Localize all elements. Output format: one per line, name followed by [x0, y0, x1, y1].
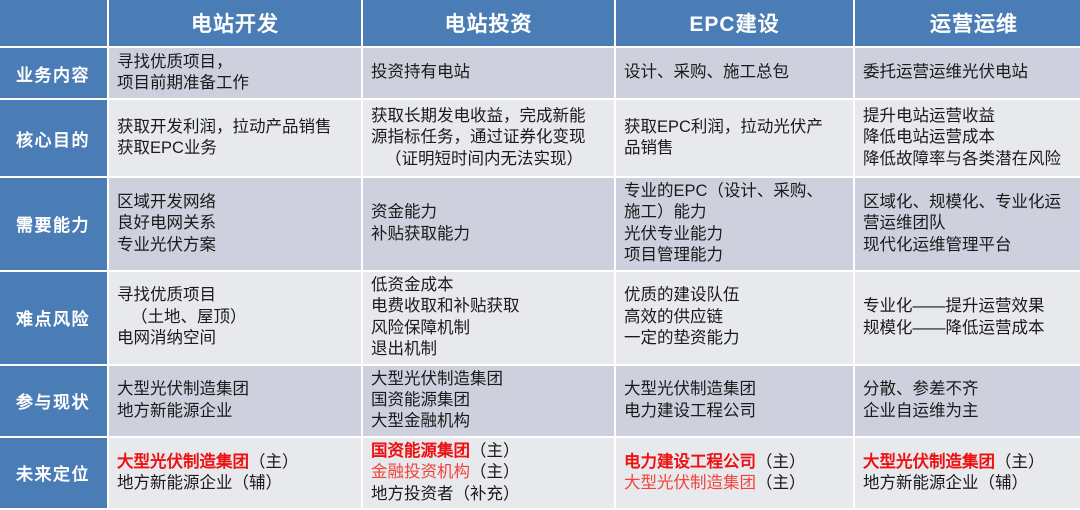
highlight-text: 大型光伏制造集团	[624, 474, 756, 492]
cell-line: 电力建设工程公司	[624, 401, 847, 422]
cell-line: 项目管理能力	[624, 245, 847, 266]
column-header-col-dev: 电站开发	[109, 0, 361, 46]
row-header-row-core-purpose: 核心目的	[0, 100, 107, 176]
cell-line: 大型光伏制造集团	[624, 379, 847, 400]
cell-line: 区域化、规模化、专业化运	[863, 192, 1080, 213]
cell-line: 设计、采购、施工总包	[624, 62, 847, 83]
cell-line: 专业光伏方案	[117, 235, 355, 256]
cell-row-required-capability-col-dev: 区域开发网络良好电网关系专业光伏方案	[109, 178, 361, 270]
cell-line: 降低故障率与各类潜在风险	[863, 149, 1080, 170]
cell-row-business-content-col-inv: 投资持有电站	[363, 48, 614, 98]
cell-line: 源指标任务，通过证券化变现	[371, 127, 608, 148]
table-header: 电站开发 电站投资 EPC建设 运营运维	[0, 0, 1080, 46]
column-header-col-inv: 电站投资	[363, 0, 614, 46]
cell-line: 规模化——降低运营成本	[863, 318, 1080, 339]
cell-line: 风险保障机制	[371, 318, 608, 339]
table-row: 难点风险寻找优质项目（土地、屋顶）电网消纳空间低资金成本电费收取和补贴获取风险保…	[0, 272, 1080, 364]
cell-line: 营运维团队	[863, 213, 1080, 234]
cell-row-required-capability-col-epc: 专业的EPC（设计、采购、施工）能力光伏专业能力项目管理能力	[616, 178, 853, 270]
cell-line: 资金能力	[371, 202, 608, 223]
highlight-text: 国资能源集团	[371, 442, 470, 460]
cell-line: 高效的供应链	[624, 307, 847, 328]
cell-line: 寻找优质项目	[117, 285, 355, 306]
cell-row-core-purpose-col-ops: 提升电站运营收益降低电站运营成本降低故障率与各类潜在风险	[855, 100, 1080, 176]
cell-line: （土地、屋顶）	[117, 307, 355, 328]
row-header-row-required-capability: 需要能力	[0, 178, 107, 270]
cell-row-core-purpose-col-inv: 获取长期发电收益，完成新能源指标任务，通过证券化变现（证明短时间内无法实现）	[363, 100, 614, 176]
cell-line: 良好电网关系	[117, 213, 355, 234]
cell-line: 现代化运维管理平台	[863, 235, 1080, 256]
table-row: 业务内容寻找优质项目，项目前期准备工作投资持有电站设计、采购、施工总包委托运营运…	[0, 48, 1080, 98]
comparison-matrix-container: 电站开发 电站投资 EPC建设 运营运维 业务内容寻找优质项目，项目前期准备工作…	[0, 0, 1080, 490]
cell-line: 一定的垫资能力	[624, 328, 847, 349]
row-header-row-future-position: 未来定位	[0, 438, 107, 508]
cell-line: 分散、参差不齐	[863, 379, 1080, 400]
table-row: 未来定位大型光伏制造集团（主）地方新能源企业（辅）国资能源集团（主）金融投资机构…	[0, 438, 1080, 508]
cell-row-participation-status-col-epc: 大型光伏制造集团电力建设工程公司	[616, 366, 853, 436]
cell-line: 品销售	[624, 138, 847, 159]
column-header-col-ops: 运营运维	[855, 0, 1080, 46]
cell-line: 降低电站运营成本	[863, 127, 1080, 148]
cell-row-future-position-col-dev: 大型光伏制造集团（主）地方新能源企业（辅）	[109, 438, 361, 508]
cell-line: （证明短时间内无法实现）	[371, 149, 608, 170]
row-header-row-business-content: 业务内容	[0, 48, 107, 98]
cell-row-business-content-col-dev: 寻找优质项目，项目前期准备工作	[109, 48, 361, 98]
cell-line: 项目前期准备工作	[117, 73, 355, 94]
cell-line: 大型光伏制造集团（主）	[624, 473, 847, 494]
cell-line: 专业的EPC（设计、采购、	[624, 181, 847, 202]
cell-line: 大型光伏制造集团（主）	[863, 452, 1080, 473]
cell-row-future-position-col-epc: 电力建设工程公司（主）大型光伏制造集团（主）	[616, 438, 853, 508]
cell-line: 金融投资机构（主）	[371, 462, 608, 483]
cell-line: 大型光伏制造集团（主）	[117, 452, 355, 473]
cell-line: 光伏专业能力	[624, 224, 847, 245]
cell-line: 获取EPC业务	[117, 138, 355, 159]
cell-line: 投资持有电站	[371, 62, 608, 83]
table-row: 核心目的获取开发利润，拉动产品销售获取EPC业务获取长期发电收益，完成新能源指标…	[0, 100, 1080, 176]
cell-line: 地方新能源企业	[117, 401, 355, 422]
column-header-col-epc: EPC建设	[616, 0, 853, 46]
highlight-text: 电力建设工程公司	[624, 453, 756, 471]
cell-line: 电力建设工程公司（主）	[624, 452, 847, 473]
cell-line: 提升电站运营收益	[863, 106, 1080, 127]
row-header-row-participation-status: 参与现状	[0, 366, 107, 436]
cell-line: 补贴获取能力	[371, 224, 608, 245]
cell-row-future-position-col-inv: 国资能源集团（主）金融投资机构（主）地方投资者（补充）	[363, 438, 614, 508]
table-row: 需要能力区域开发网络良好电网关系专业光伏方案资金能力补贴获取能力专业的EPC（设…	[0, 178, 1080, 270]
cell-line: 寻找优质项目，	[117, 52, 355, 73]
cell-row-future-position-col-ops: 大型光伏制造集团（主）地方新能源企业（辅）	[855, 438, 1080, 508]
cell-row-core-purpose-col-epc: 获取EPC利润，拉动光伏产品销售	[616, 100, 853, 176]
cell-row-participation-status-col-inv: 大型光伏制造集团国资能源集团大型金融机构	[363, 366, 614, 436]
cell-row-business-content-col-ops: 委托运营运维光伏电站	[855, 48, 1080, 98]
cell-line: 国资能源集团	[371, 390, 608, 411]
cell-line: 电网消纳空间	[117, 328, 355, 349]
cell-line: 企业自运维为主	[863, 401, 1080, 422]
highlight-text: 大型光伏制造集团	[117, 453, 249, 471]
cell-line: 区域开发网络	[117, 192, 355, 213]
cell-row-difficulty-risk-col-epc: 优质的建设队伍高效的供应链一定的垫资能力	[616, 272, 853, 364]
cell-line: 委托运营运维光伏电站	[863, 62, 1080, 83]
cell-line: 专业化——提升运营效果	[863, 296, 1080, 317]
cell-row-participation-status-col-dev: 大型光伏制造集团地方新能源企业	[109, 366, 361, 436]
table-body: 业务内容寻找优质项目，项目前期准备工作投资持有电站设计、采购、施工总包委托运营运…	[0, 48, 1080, 508]
cell-line: 获取EPC利润，拉动光伏产	[624, 117, 847, 138]
header-row: 电站开发 电站投资 EPC建设 运营运维	[0, 0, 1080, 46]
cell-line: 地方投资者（补充）	[371, 484, 608, 505]
cell-line: 电费收取和补贴获取	[371, 296, 608, 317]
cell-row-difficulty-risk-col-ops: 专业化——提升运营效果规模化——降低运营成本	[855, 272, 1080, 364]
cell-line: 大型光伏制造集团	[117, 379, 355, 400]
highlight-text: 大型光伏制造集团	[863, 453, 995, 471]
corner-cell	[0, 0, 107, 46]
solar-business-comparison-table: 电站开发 电站投资 EPC建设 运营运维 业务内容寻找优质项目，项目前期准备工作…	[0, 0, 1080, 510]
cell-row-participation-status-col-ops: 分散、参差不齐企业自运维为主	[855, 366, 1080, 436]
cell-row-business-content-col-epc: 设计、采购、施工总包	[616, 48, 853, 98]
cell-row-core-purpose-col-dev: 获取开发利润，拉动产品销售获取EPC业务	[109, 100, 361, 176]
cell-row-difficulty-risk-col-inv: 低资金成本电费收取和补贴获取风险保障机制退出机制	[363, 272, 614, 364]
cell-line: 大型金融机构	[371, 411, 608, 432]
row-header-row-difficulty-risk: 难点风险	[0, 272, 107, 364]
cell-line: 低资金成本	[371, 275, 608, 296]
cell-line: 获取长期发电收益，完成新能	[371, 106, 608, 127]
cell-line: 退出机制	[371, 339, 608, 360]
highlight-text: 金融投资机构	[371, 463, 470, 481]
cell-line: 获取开发利润，拉动产品销售	[117, 117, 355, 138]
cell-row-difficulty-risk-col-dev: 寻找优质项目（土地、屋顶）电网消纳空间	[109, 272, 361, 364]
cell-line: 大型光伏制造集团	[371, 369, 608, 390]
cell-row-required-capability-col-inv: 资金能力补贴获取能力	[363, 178, 614, 270]
cell-line: 施工）能力	[624, 202, 847, 223]
table-row: 参与现状大型光伏制造集团地方新能源企业大型光伏制造集团国资能源集团大型金融机构大…	[0, 366, 1080, 436]
cell-row-required-capability-col-ops: 区域化、规模化、专业化运营运维团队现代化运维管理平台	[855, 178, 1080, 270]
cell-line: 地方新能源企业（辅）	[863, 473, 1080, 494]
cell-line: 国资能源集团（主）	[371, 441, 608, 462]
cell-line: 优质的建设队伍	[624, 285, 847, 306]
cell-line: 地方新能源企业（辅）	[117, 473, 355, 494]
